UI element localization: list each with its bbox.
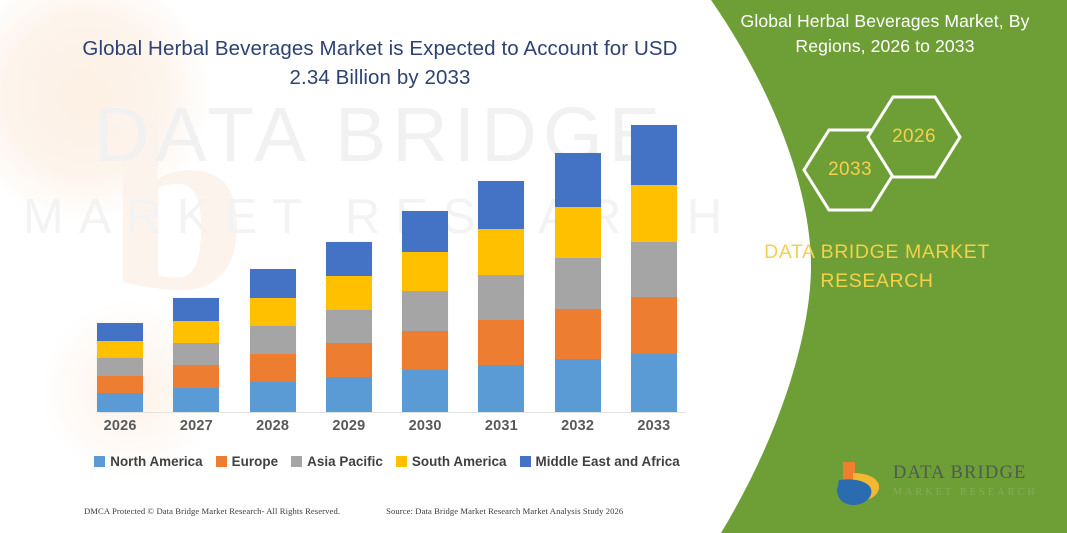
bar-segment bbox=[326, 377, 372, 412]
infographic-root: b DATA BRIDGE MARKET RESEARCH Global Her… bbox=[0, 0, 1067, 533]
brand-panel-content: Global Herbal Beverages Market, By Regio… bbox=[687, 0, 1067, 533]
x-axis-tick: 2031 bbox=[470, 418, 532, 434]
bar-segment bbox=[631, 185, 677, 242]
stacked-bar bbox=[173, 298, 219, 412]
footer: DMCA Protected © Data Bridge Market Rese… bbox=[0, 506, 720, 516]
legend-item[interactable]: Middle East and Africa bbox=[520, 454, 680, 469]
hexagon-2026-label: 2026 bbox=[865, 94, 963, 180]
bar-column bbox=[89, 110, 151, 412]
stacked-bar bbox=[250, 269, 296, 412]
bar-segment bbox=[478, 275, 524, 320]
bar-column bbox=[242, 110, 304, 412]
bar-segment bbox=[631, 125, 677, 184]
brand-line-1: DATA BRIDGE MARKET bbox=[727, 238, 1027, 267]
bar-segment bbox=[478, 181, 524, 228]
bar-segment bbox=[97, 376, 143, 394]
bar-segment bbox=[97, 358, 143, 376]
bar-segment bbox=[631, 297, 677, 354]
legend-swatch-icon bbox=[216, 456, 227, 467]
legend-item[interactable]: Asia Pacific bbox=[291, 454, 383, 469]
legend-item[interactable]: North America bbox=[94, 454, 202, 469]
bar-segment bbox=[402, 211, 448, 252]
x-axis-tick: 2029 bbox=[318, 418, 380, 434]
legend-label: Europe bbox=[232, 454, 278, 469]
legend-label: North America bbox=[110, 454, 202, 469]
bar-segment bbox=[173, 321, 219, 343]
stacked-bar bbox=[402, 211, 448, 412]
bar-segment bbox=[402, 252, 448, 292]
bar-segment bbox=[478, 365, 524, 412]
footer-source: Source: Data Bridge Market Research Mark… bbox=[386, 506, 623, 516]
brand-name: DATA BRIDGE MARKET RESEARCH bbox=[727, 238, 1027, 297]
bar-segment bbox=[402, 370, 448, 412]
bar-segment bbox=[631, 354, 677, 412]
bar-segment bbox=[250, 269, 296, 298]
brand-panel: Global Herbal Beverages Market, By Regio… bbox=[687, 0, 1067, 533]
bar-segment bbox=[555, 153, 601, 207]
legend-item[interactable]: South America bbox=[396, 454, 507, 469]
bar-segment bbox=[173, 365, 219, 388]
company-logo: DATA BRIDGE MARKET RESEARCH bbox=[835, 458, 1065, 512]
bar-column bbox=[165, 110, 227, 412]
bar-segment bbox=[97, 341, 143, 359]
hexagon-2026: 2026 bbox=[865, 94, 963, 180]
chart-legend: North AmericaEuropeAsia PacificSouth Ame… bbox=[82, 454, 692, 469]
bar-segment bbox=[250, 326, 296, 353]
x-axis-labels: 20262027202820292030203120322033 bbox=[82, 418, 692, 434]
bar-column bbox=[394, 110, 456, 412]
bar-column bbox=[470, 110, 532, 412]
stacked-bar bbox=[631, 125, 677, 412]
hexagon-group: 2033 2026 bbox=[787, 94, 1047, 209]
stacked-bar bbox=[555, 153, 601, 412]
bar-segment bbox=[402, 331, 448, 371]
stacked-bar bbox=[326, 242, 372, 412]
bar-segment bbox=[173, 343, 219, 365]
bar-segment bbox=[478, 229, 524, 275]
legend-label: Asia Pacific bbox=[307, 454, 383, 469]
bar-segment bbox=[555, 309, 601, 360]
bar-segment bbox=[97, 393, 143, 412]
bar-segment bbox=[97, 323, 143, 341]
bar-segment bbox=[250, 298, 296, 327]
x-axis-tick: 2032 bbox=[547, 418, 609, 434]
bar-segment bbox=[555, 258, 601, 309]
page-title: Global Herbal Beverages Market is Expect… bbox=[80, 34, 680, 92]
logo-text: DATA BRIDGE MARKET RESEARCH bbox=[893, 464, 1038, 498]
legend-swatch-icon bbox=[520, 456, 531, 467]
legend-label: Middle East and Africa bbox=[536, 454, 680, 469]
legend-label: South America bbox=[412, 454, 507, 469]
bar-segment bbox=[326, 310, 372, 343]
legend-swatch-icon bbox=[291, 456, 302, 467]
bar-column bbox=[623, 110, 685, 412]
legend-swatch-icon bbox=[396, 456, 407, 467]
legend-swatch-icon bbox=[94, 456, 105, 467]
bar-segment bbox=[173, 298, 219, 321]
footer-copyright: DMCA Protected © Data Bridge Market Rese… bbox=[84, 506, 340, 516]
logo-company-name: DATA BRIDGE bbox=[893, 464, 1038, 483]
brand-line-2: RESEARCH bbox=[727, 267, 1027, 296]
x-axis-tick: 2033 bbox=[623, 418, 685, 434]
bar-segment bbox=[250, 354, 296, 383]
legend-item[interactable]: Europe bbox=[216, 454, 278, 469]
bar-segment bbox=[173, 388, 219, 412]
chart-panel: b DATA BRIDGE MARKET RESEARCH Global Her… bbox=[0, 0, 760, 533]
bar-segment bbox=[326, 242, 372, 276]
stacked-bar bbox=[97, 323, 143, 412]
bar-segment bbox=[631, 242, 677, 297]
bar-column bbox=[547, 110, 609, 412]
bar-column bbox=[318, 110, 380, 412]
x-axis-tick: 2027 bbox=[165, 418, 227, 434]
bar-segment bbox=[555, 207, 601, 259]
bar-group bbox=[82, 110, 692, 412]
x-axis-tick: 2026 bbox=[89, 418, 151, 434]
chart-plot-area bbox=[82, 110, 692, 413]
x-axis-tick: 2030 bbox=[394, 418, 456, 434]
bar-segment bbox=[478, 320, 524, 365]
x-axis-tick: 2028 bbox=[242, 418, 304, 434]
stacked-bar bbox=[478, 181, 524, 412]
bar-segment bbox=[250, 382, 296, 412]
bar-segment bbox=[326, 276, 372, 310]
axis-baseline bbox=[100, 412, 686, 413]
bar-segment bbox=[326, 343, 372, 377]
logo-b-icon bbox=[835, 460, 887, 508]
logo-tagline: MARKET RESEARCH bbox=[893, 488, 1038, 498]
bar-segment bbox=[555, 359, 601, 412]
logo-mark-icon bbox=[835, 460, 887, 508]
panel-title: Global Herbal Beverages Market, By Regio… bbox=[715, 9, 1055, 59]
bar-segment bbox=[402, 291, 448, 331]
